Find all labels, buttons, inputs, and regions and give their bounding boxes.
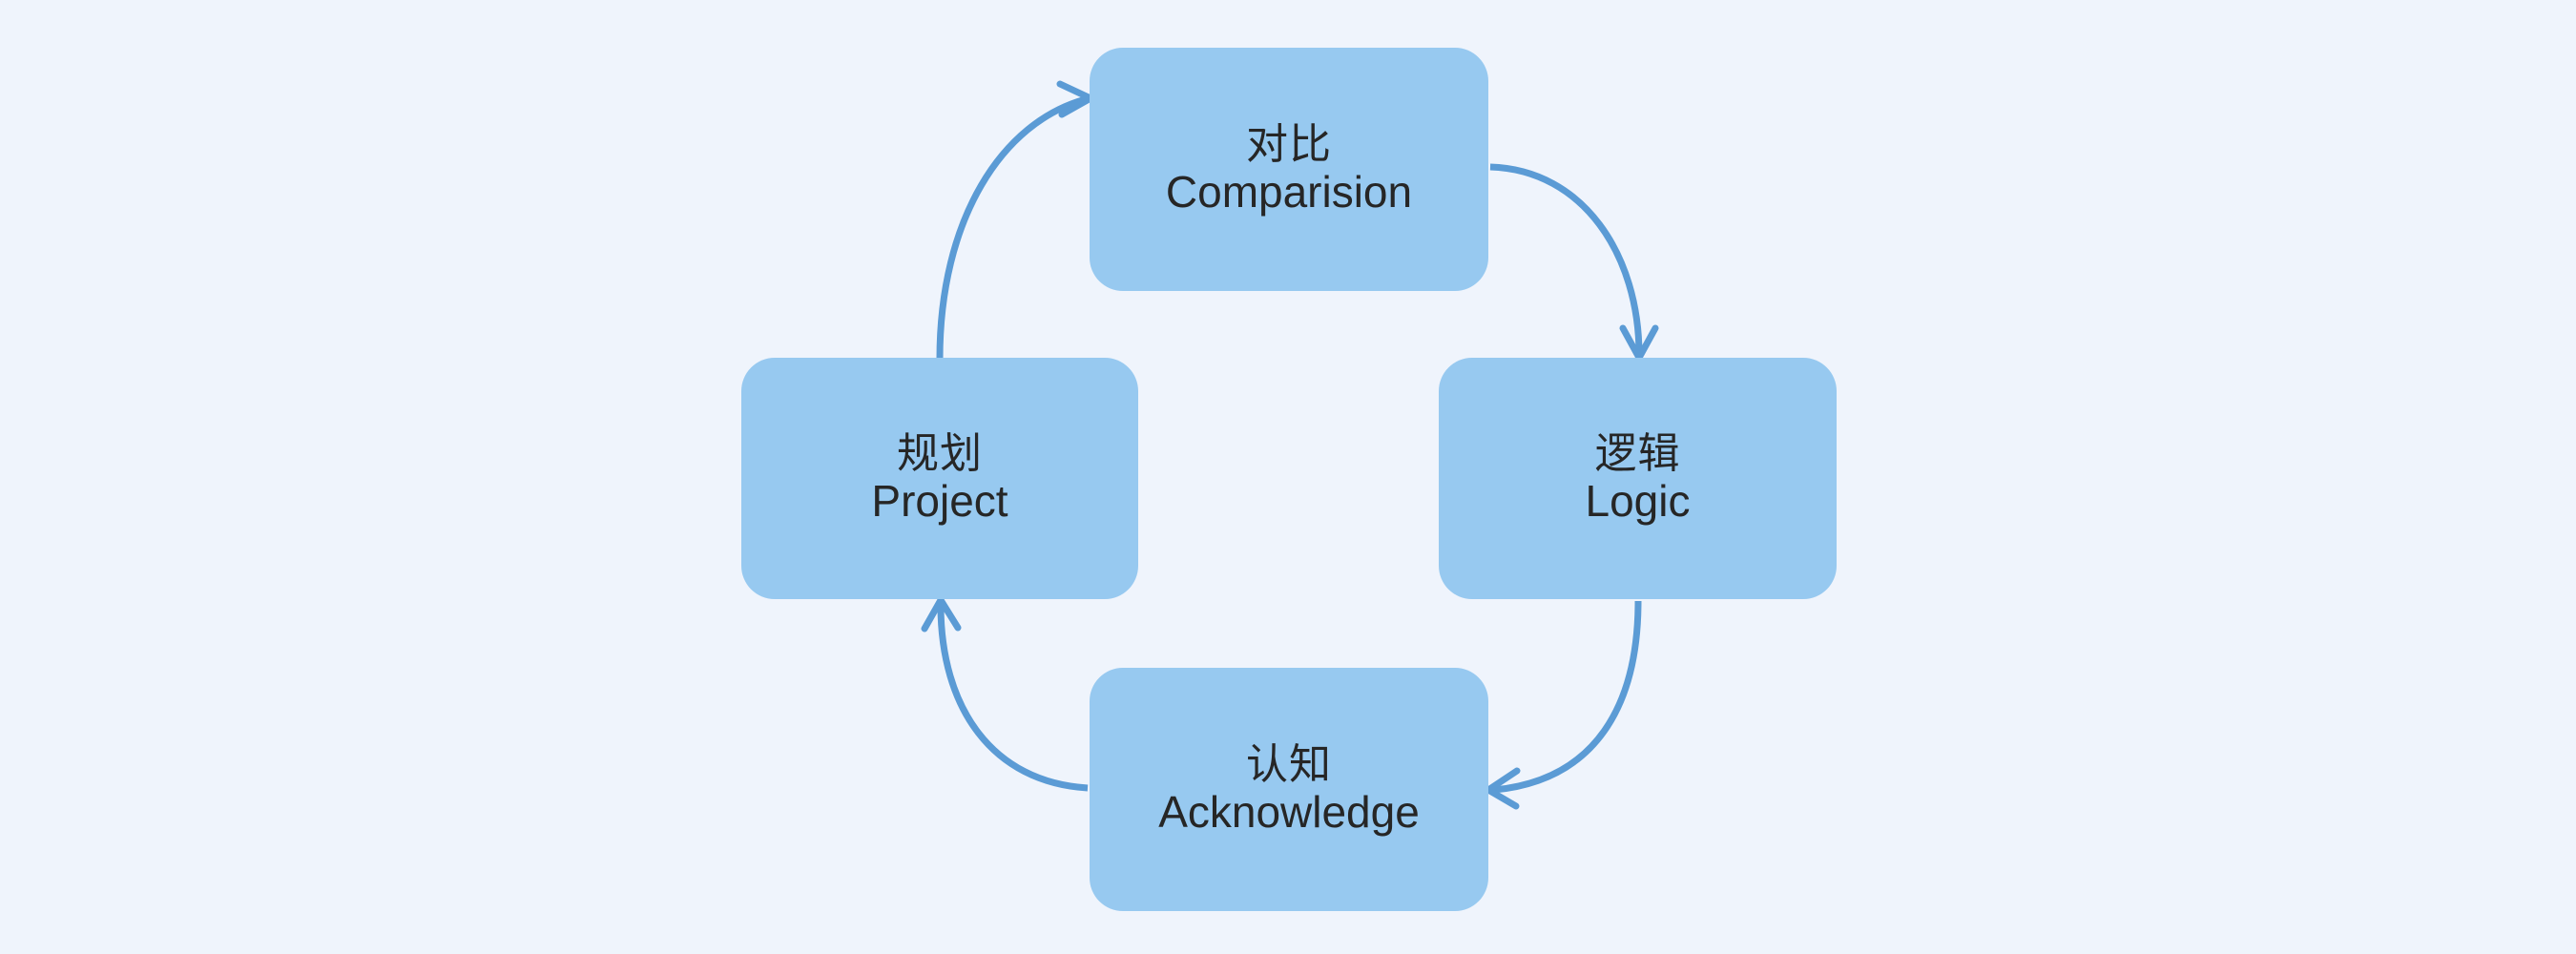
- node-logic-label-en: Logic: [1586, 477, 1691, 527]
- node-acknowledge-label-cn: 认知: [1246, 741, 1332, 788]
- node-project-label-en: Project: [871, 477, 1008, 527]
- arrow-project-to-comparision: [940, 84, 1091, 359]
- node-comparision[interactable]: 对比 Comparision: [1090, 48, 1488, 291]
- node-project[interactable]: 规划 Project: [741, 358, 1138, 599]
- node-logic[interactable]: 逻辑 Logic: [1439, 358, 1837, 599]
- node-acknowledge[interactable]: 认知 Acknowledge: [1090, 668, 1488, 911]
- node-comparision-label-en: Comparision: [1166, 168, 1412, 218]
- arrow-acknowledge-to-project: [924, 600, 1088, 788]
- node-logic-label-cn: 逻辑: [1595, 430, 1681, 477]
- node-project-label-cn: 规划: [897, 430, 983, 477]
- arrow-logic-to-acknowledge: [1488, 601, 1638, 806]
- node-comparision-label-cn: 对比: [1246, 121, 1332, 168]
- arrow-comparision-to-logic: [1490, 167, 1655, 358]
- node-acknowledge-label-en: Acknowledge: [1158, 788, 1420, 838]
- diagram-canvas: 对比 Comparision 逻辑 Logic 认知 Acknowledge 规…: [0, 0, 2576, 954]
